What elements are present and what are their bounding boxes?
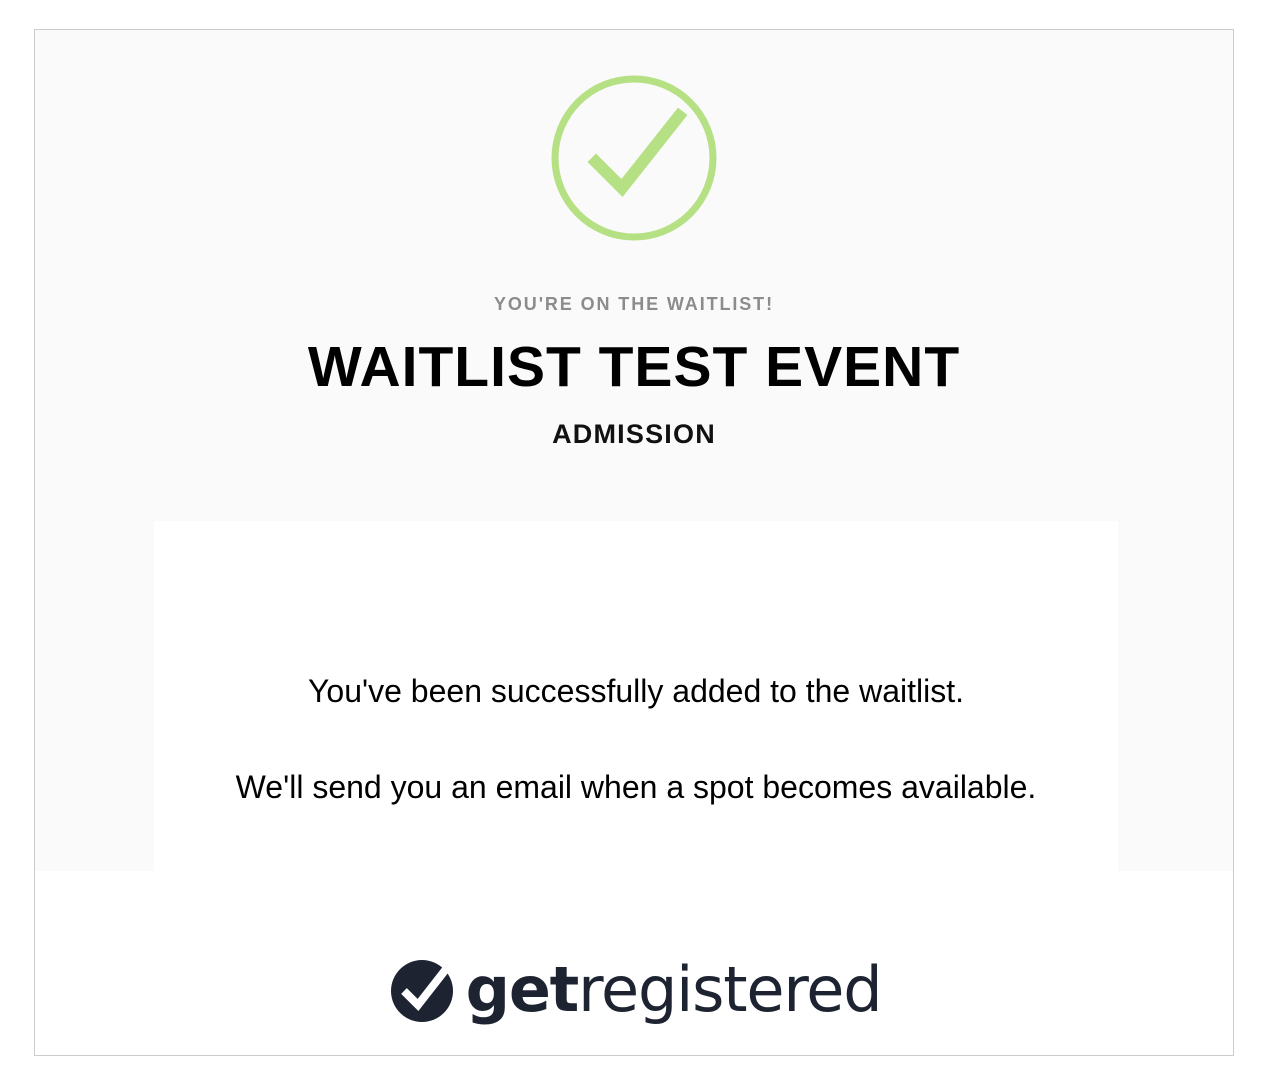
message-panel: You've been successfully added to the wa… xyxy=(154,521,1118,871)
footer-branding: getregistered xyxy=(35,955,1233,1025)
logo-wordmark-registered: registered xyxy=(578,953,881,1026)
check-circle-icon xyxy=(551,75,717,241)
logo-wordmark-get: get xyxy=(466,953,578,1026)
confirmation-message-line-2: We'll send you an email when a spot beco… xyxy=(154,767,1118,807)
message-block: You've been successfully added to the wa… xyxy=(154,671,1118,807)
logo-wordmark: getregistered xyxy=(466,959,882,1021)
waitlist-confirmation-page: YOU'RE ON THE WAITLIST! WAITLIST TEST EV… xyxy=(0,0,1270,1090)
status-icon-container xyxy=(35,75,1233,241)
event-heading-block: YOU'RE ON THE WAITLIST! WAITLIST TEST EV… xyxy=(35,292,1233,451)
card-header-section: YOU'RE ON THE WAITLIST! WAITLIST TEST EV… xyxy=(35,30,1233,871)
getregistered-logo[interactable]: getregistered xyxy=(387,955,882,1025)
confirmation-message-line-1: You've been successfully added to the wa… xyxy=(154,671,1118,711)
event-title: WAITLIST TEST EVENT xyxy=(35,329,1233,405)
confirmation-card: YOU'RE ON THE WAITLIST! WAITLIST TEST EV… xyxy=(34,29,1234,1056)
waitlist-status-label: YOU'RE ON THE WAITLIST! xyxy=(35,292,1233,316)
check-badge-icon xyxy=(387,955,457,1025)
ticket-type-label: ADMISSION xyxy=(35,417,1233,451)
